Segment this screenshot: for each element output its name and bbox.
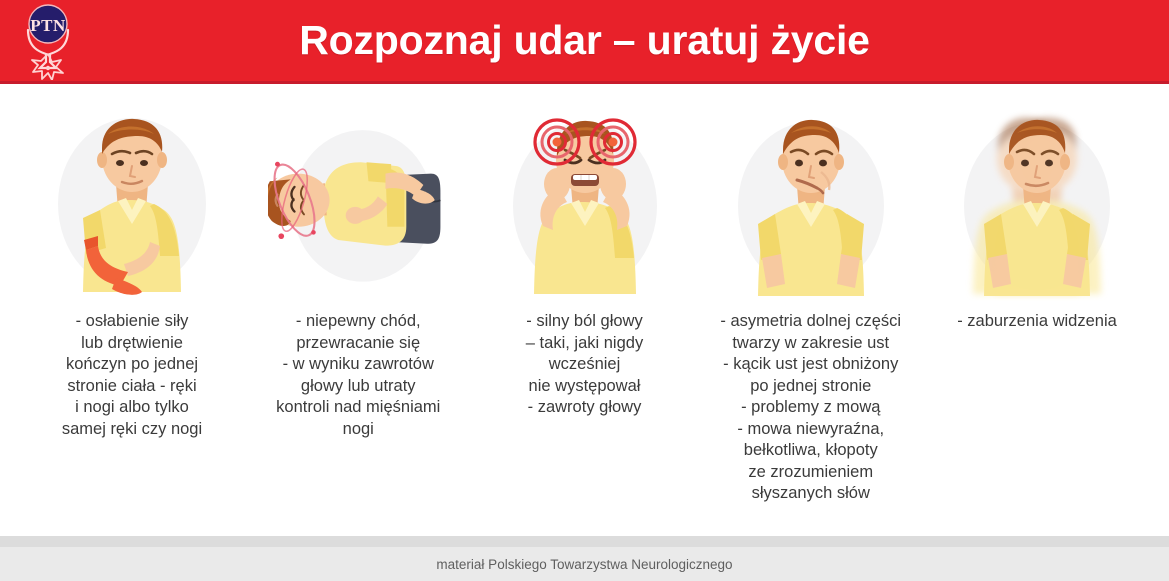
symptom-line: nogi xyxy=(250,419,466,441)
symptom-text-2: - niepewny chód, przewracanie się - w wy… xyxy=(250,311,466,440)
person-fallen-dizzy-illustration xyxy=(268,106,448,301)
symptom-text-3: - silny ból głowy – taki, jaki nigdy wcz… xyxy=(477,311,693,419)
symptom-line: - mowa niewyraźna, xyxy=(703,419,919,441)
footer-bar: materiał Polskiego Towarzystwa Neurologi… xyxy=(0,536,1169,581)
footer-credit: materiał Polskiego Towarzystwa Neurologi… xyxy=(436,557,732,572)
symptom-line: słyszanych słów xyxy=(703,483,919,505)
symptom-line: samej ręki czy nogi xyxy=(24,419,240,441)
symptom-line: - zawroty głowy xyxy=(477,397,693,419)
symptom-line: wcześniej xyxy=(477,354,693,376)
page-title: Rozpoznaj udar – uratuj życie xyxy=(299,17,870,64)
infographic-poster: PTN Rozpoznaj udar – uratuj życie xyxy=(0,0,1169,581)
man-holding-weak-arm-illustration xyxy=(42,106,222,301)
symptom-line: i nogi albo tylko xyxy=(24,397,240,419)
symptom-line: – taki, jaki nigdy xyxy=(477,333,693,355)
symptom-text-5: - zaburzenia widzenia xyxy=(929,311,1145,333)
symptom-columns: - osłabienie siły lub drętwienie kończyn… xyxy=(0,84,1169,536)
symptom-line: nie występował xyxy=(477,376,693,398)
symptom-line: głowy lub utraty xyxy=(250,376,466,398)
symptom-line: kontroli nad mięśniami xyxy=(250,397,466,419)
symptom-text-4: - asymetria dolnej części twarzy w zakre… xyxy=(703,311,919,505)
symptom-line: - kącik ust jest obniżony xyxy=(703,354,919,376)
symptom-text-1: - osłabienie siły lub drętwienie kończyn… xyxy=(24,311,240,440)
symptom-line: - niepewny chód, xyxy=(250,311,466,333)
man-facial-droop-illustration xyxy=(721,106,901,301)
ptn-logo: PTN xyxy=(18,2,78,80)
symptom-line: - asymetria dolnej części xyxy=(703,311,919,333)
symptom-line: po jednej stronie xyxy=(703,376,919,398)
header-bar: PTN Rozpoznaj udar – uratuj życie xyxy=(0,0,1169,84)
symptom-line: - osłabienie siły xyxy=(24,311,240,333)
symptom-line: - w wyniku zawrotów xyxy=(250,354,466,376)
symptom-column-1: - osłabienie siły lub drętwienie kończyn… xyxy=(24,84,240,440)
symptom-line: kończyn po jednej xyxy=(24,354,240,376)
man-severe-headache-illustration xyxy=(495,106,675,301)
logo-text: PTN xyxy=(30,16,66,35)
symptom-line: twarzy w zakresie ust xyxy=(703,333,919,355)
symptom-line: przewracanie się xyxy=(250,333,466,355)
symptom-line: bełkotliwa, kłopoty xyxy=(703,440,919,462)
symptom-column-5: - zaburzenia widzenia xyxy=(929,84,1145,333)
symptom-line: lub drętwienie xyxy=(24,333,240,355)
symptom-line: ze zrozumieniem xyxy=(703,462,919,484)
symptom-column-2: - niepewny chód, przewracanie się - w wy… xyxy=(250,84,466,440)
man-blurred-vision-illustration xyxy=(947,106,1127,301)
symptom-column-4: - asymetria dolnej części twarzy w zakre… xyxy=(703,84,919,505)
symptom-column-3: - silny ból głowy – taki, jaki nigdy wcz… xyxy=(477,84,693,419)
symptom-line: - silny ból głowy xyxy=(477,311,693,333)
symptom-line: - zaburzenia widzenia xyxy=(929,311,1145,333)
symptom-line: stronie ciała - ręki xyxy=(24,376,240,398)
symptom-line: - problemy z mową xyxy=(703,397,919,419)
